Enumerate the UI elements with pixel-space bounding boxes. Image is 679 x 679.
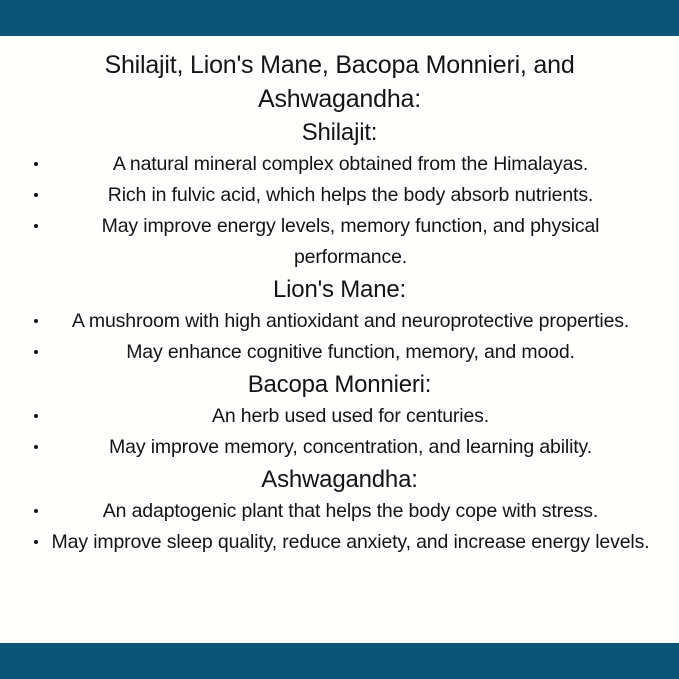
list-item: An herb used used for centuries. [14, 401, 665, 432]
bullet-list: A natural mineral complex obtained from … [14, 149, 665, 273]
list-item: An adaptogenic plant that helps the body… [14, 496, 665, 527]
bullet-dot-icon [34, 509, 38, 513]
bullet-list: A mushroom with high antioxidant and neu… [14, 306, 665, 368]
section-shilajit: Shilajit: A natural mineral complex obta… [14, 116, 665, 273]
bullet-dot-icon [34, 445, 38, 449]
page-title-line-1: Shilajit, Lion's Mane, Bacopa Monnieri, … [104, 51, 574, 79]
list-item-label: May enhance cognitive function, memory, … [50, 337, 651, 368]
bullet-dot-icon [34, 414, 38, 418]
list-item-label: May improve sleep quality, reduce anxiet… [50, 527, 651, 558]
page-title-line-2: Ashwagandha: [258, 85, 421, 113]
bottom-accent-band [0, 643, 679, 679]
section-heading: Shilajit: [14, 116, 665, 149]
section-ashwagandha: Ashwagandha: An adaptogenic plant that h… [14, 463, 665, 558]
list-item-label: A mushroom with high antioxidant and neu… [50, 306, 651, 337]
poster-content: Shilajit, Lion's Mane, Bacopa Monnieri, … [0, 36, 679, 643]
page-title: Shilajit, Lion's Mane, Bacopa Monnieri, … [14, 48, 665, 116]
list-item: Rich in fulvic acid, which helps the bod… [14, 180, 665, 211]
top-accent-band [0, 0, 679, 36]
list-item: A natural mineral complex obtained from … [14, 149, 665, 180]
bullet-dot-icon [34, 319, 38, 323]
section-heading: Lion's Mane: [14, 273, 665, 306]
bullet-dot-icon [34, 193, 38, 197]
section-lions-mane: Lion's Mane: A mushroom with high antiox… [14, 273, 665, 368]
list-item: May improve sleep quality, reduce anxiet… [14, 527, 665, 558]
bullet-list: An adaptogenic plant that helps the body… [14, 496, 665, 558]
list-item: May enhance cognitive function, memory, … [14, 337, 665, 368]
infographic-poster: Shilajit, Lion's Mane, Bacopa Monnieri, … [0, 0, 679, 679]
bullet-dot-icon [34, 540, 38, 544]
list-item-label: A natural mineral complex obtained from … [50, 149, 651, 180]
poster-body: Shilajit, Lion's Mane, Bacopa Monnieri, … [0, 36, 679, 558]
section-heading: Ashwagandha: [14, 463, 665, 496]
bullet-dot-icon [34, 224, 38, 228]
list-item: May improve energy levels, memory functi… [14, 211, 665, 273]
list-item-label: Rich in fulvic acid, which helps the bod… [50, 180, 651, 211]
section-bacopa-monnieri: Bacopa Monnieri: An herb used used for c… [14, 368, 665, 463]
bullet-list: An herb used used for centuries. May imp… [14, 401, 665, 463]
list-item: May improve memory, concentration, and l… [14, 432, 665, 463]
section-heading: Bacopa Monnieri: [14, 368, 665, 401]
bullet-dot-icon [34, 350, 38, 354]
list-item-label: May improve energy levels, memory functi… [50, 211, 651, 273]
list-item-label: An herb used used for centuries. [50, 401, 651, 432]
bullet-dot-icon [34, 162, 38, 166]
list-item-label: May improve memory, concentration, and l… [50, 432, 651, 463]
list-item: A mushroom with high antioxidant and neu… [14, 306, 665, 337]
list-item-label: An adaptogenic plant that helps the body… [50, 496, 651, 527]
